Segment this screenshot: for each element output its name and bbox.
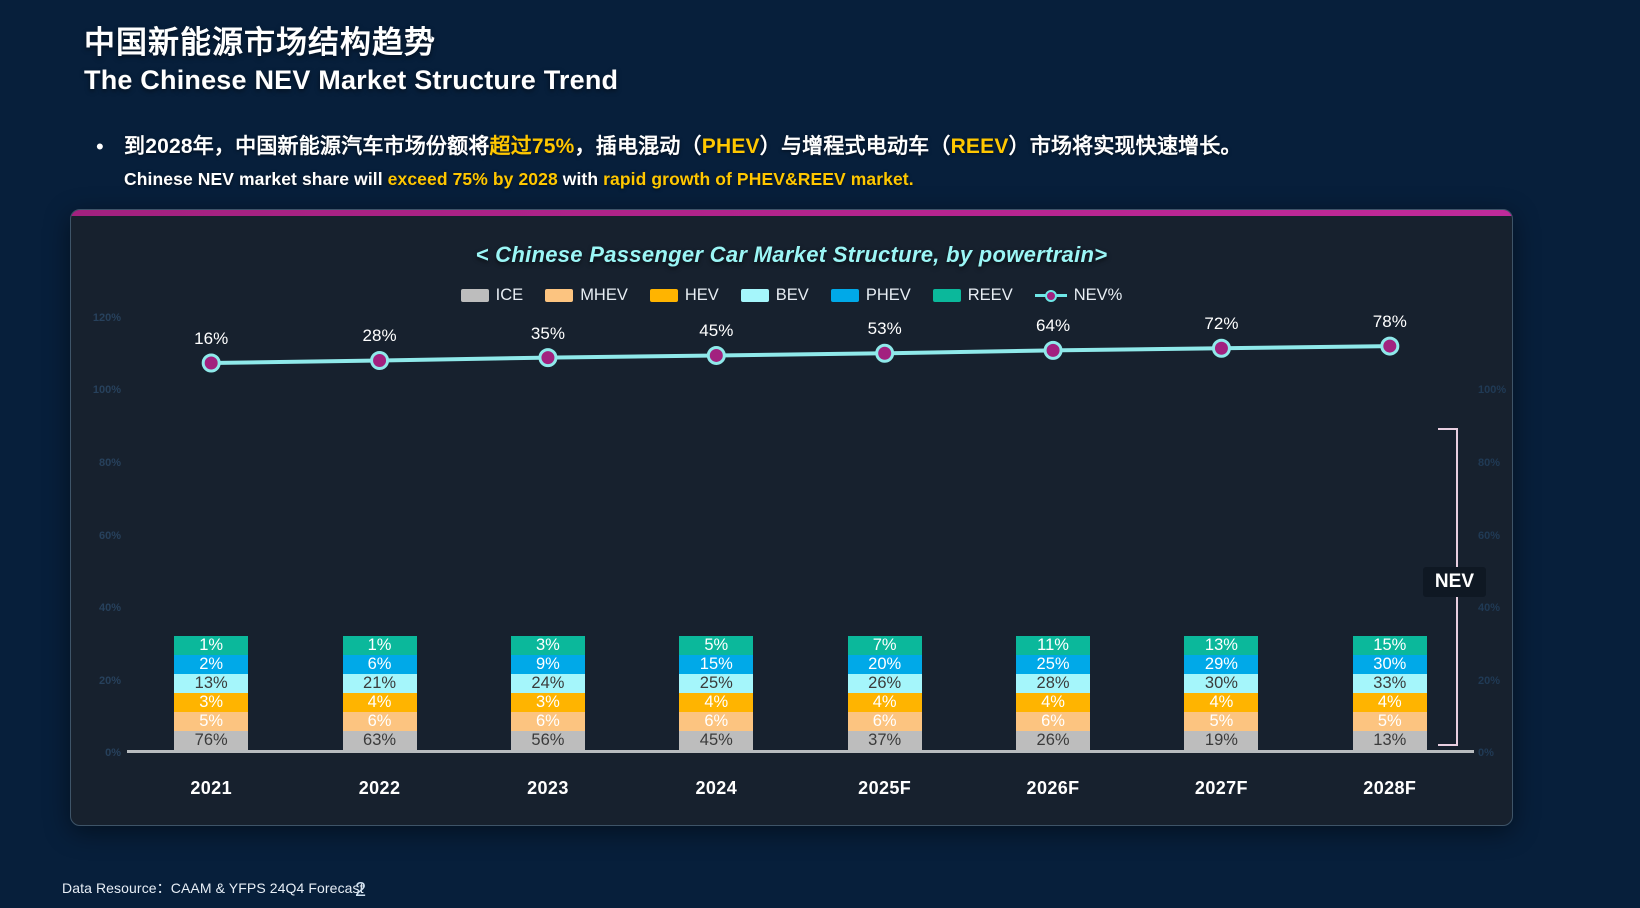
- bar-segment-reev[interactable]: 13%: [1184, 636, 1258, 655]
- x-axis-label: 2025F: [801, 778, 969, 799]
- bar-segment-value: 33%: [1373, 674, 1406, 693]
- y-tick-label: 40%: [99, 602, 121, 614]
- x-axis-label: 2021: [127, 778, 295, 799]
- bar-segment-ice[interactable]: 56%: [511, 731, 585, 750]
- bar-segment-bev[interactable]: 33%: [1353, 674, 1427, 693]
- data-source-note: Data Resource：CAAM & YFPS 24Q4 Forecast: [62, 878, 364, 898]
- bar-segment-bev[interactable]: 28%: [1016, 674, 1090, 693]
- bar-segment-phev[interactable]: 29%: [1184, 655, 1258, 674]
- legend-swatch-icon: [741, 289, 769, 302]
- bar-segment-mhev[interactable]: 6%: [511, 712, 585, 731]
- legend-swatch-icon: [933, 289, 961, 302]
- bar-segment-ice[interactable]: 13%: [1353, 731, 1427, 750]
- y-axis-right: 0%20%40%60%80%100%: [1474, 318, 1512, 753]
- bar-segment-bev[interactable]: 30%: [1184, 674, 1258, 693]
- bar-column: 63%6%4%21%6%1%: [295, 318, 463, 750]
- legend-label: ICE: [496, 286, 524, 305]
- y-tick-label-right: 0%: [1478, 747, 1494, 759]
- bar-segment-value: 15%: [700, 655, 733, 674]
- x-axis-labels: 20212022202320242025F2026F2027F2028F: [127, 778, 1474, 799]
- bar-segment-ice[interactable]: 63%: [343, 731, 417, 750]
- highlighted-text: PHEV: [702, 135, 760, 158]
- legend-item-bev[interactable]: BEV: [741, 286, 809, 305]
- bullet-marker: •: [96, 133, 124, 161]
- bar-segment-phev[interactable]: 6%: [343, 655, 417, 674]
- bar-segment-value: 7%: [873, 636, 897, 655]
- bar-stack: 63%6%4%21%6%1%: [343, 636, 417, 750]
- bar-segment-value: 45%: [700, 731, 733, 750]
- bar-segment-value: 37%: [868, 731, 901, 750]
- bar-segment-mhev[interactable]: 5%: [174, 712, 248, 731]
- bar-segment-value: 28%: [1037, 674, 1070, 693]
- y-tick-label: 60%: [99, 530, 121, 542]
- bar-segment-value: 3%: [536, 636, 560, 655]
- bar-segment-value: 26%: [1037, 731, 1070, 750]
- bar-segment-value: 13%: [1373, 731, 1406, 750]
- bar-segment-value: 13%: [1205, 636, 1238, 655]
- bar-segment-reev[interactable]: 1%: [174, 636, 248, 655]
- bar-segment-mhev[interactable]: 6%: [343, 712, 417, 731]
- bar-segment-value: 6%: [1041, 712, 1065, 731]
- x-axis-label: 2022: [295, 778, 463, 799]
- bar-segment-value: 1%: [368, 636, 392, 655]
- bar-segment-bev[interactable]: 26%: [848, 674, 922, 693]
- bar-segment-ice[interactable]: 26%: [1016, 731, 1090, 750]
- nev-bracket-label: NEV: [1423, 567, 1486, 597]
- legend-swatch-icon: [650, 289, 678, 302]
- highlighted-text: 超过75%: [490, 135, 575, 158]
- legend-item-ice[interactable]: ICE: [461, 286, 524, 305]
- bar-stack: 19%5%4%30%29%13%: [1184, 636, 1258, 750]
- chart-title: < Chinese Passenger Car Market Structure…: [71, 242, 1512, 268]
- legend-label: HEV: [685, 286, 719, 305]
- bar-segment-value: 4%: [873, 693, 897, 712]
- legend-item-phev[interactable]: PHEV: [831, 286, 911, 305]
- bar-segment-value: 30%: [1373, 655, 1406, 674]
- legend-item-reev[interactable]: REEV: [933, 286, 1013, 305]
- key-message-block: • 到2028年，中国新能源汽车市场份额将超过75%，插电混动（PHEV）与增程…: [96, 133, 1566, 191]
- bar-segment-reev[interactable]: 3%: [511, 636, 585, 655]
- bar-segment-value: 5%: [1378, 712, 1402, 731]
- bar-segment-value: 5%: [199, 712, 223, 731]
- bar-segment-mhev[interactable]: 6%: [848, 712, 922, 731]
- y-tick-label: 100%: [93, 384, 121, 396]
- highlighted-text: REEV: [951, 135, 1009, 158]
- bar-segment-mhev[interactable]: 6%: [1016, 712, 1090, 731]
- y-tick-label: 80%: [99, 457, 121, 469]
- legend-swatch-icon: [545, 289, 573, 302]
- legend-label: REEV: [968, 286, 1013, 305]
- bar-segment-value: 25%: [1037, 655, 1070, 674]
- bar-segment-hev[interactable]: 4%: [1016, 693, 1090, 712]
- legend-item-nev-percent[interactable]: NEV%: [1035, 286, 1123, 305]
- bar-segment-phev[interactable]: 20%: [848, 655, 922, 674]
- legend-item-mhev[interactable]: MHEV: [545, 286, 628, 305]
- bar-segment-bev[interactable]: 21%: [343, 674, 417, 693]
- page-number: 2: [355, 879, 366, 902]
- bar-column: 45%6%4%25%15%5%: [632, 318, 800, 750]
- bar-segment-value: 56%: [531, 731, 564, 750]
- bar-segment-hev[interactable]: 3%: [511, 693, 585, 712]
- bar-segment-hev[interactable]: 4%: [1353, 693, 1427, 712]
- bar-stack: 13%5%4%33%30%15%: [1353, 636, 1427, 750]
- y-axis-left: 120%100%80%60%40%20%0%: [85, 318, 127, 753]
- plain-text: ）市场将实现快速增长。: [1009, 135, 1242, 158]
- bar-segment-value: 26%: [868, 674, 901, 693]
- bar-segment-phev[interactable]: 30%: [1353, 655, 1427, 674]
- plot-area: 120%100%80%60%40%20%0% 0%20%40%60%80%100…: [127, 318, 1474, 753]
- bar-segment-hev[interactable]: 4%: [848, 693, 922, 712]
- bar-stack: 26%6%4%28%25%11%: [1016, 636, 1090, 750]
- page-title-english: The Chinese NEV Market Structure Trend: [84, 64, 618, 98]
- bar-segment-value: 76%: [195, 731, 228, 750]
- bar-segment-phev[interactable]: 15%: [679, 655, 753, 674]
- legend-label: BEV: [776, 286, 809, 305]
- bar-segment-reev[interactable]: 15%: [1353, 636, 1427, 655]
- bar-segment-value: 6%: [536, 712, 560, 731]
- bar-segment-value: 6%: [873, 712, 897, 731]
- plain-text: ）与增程式电动车（: [760, 135, 951, 158]
- bar-column: 26%6%4%28%25%11%: [969, 318, 1137, 750]
- bar-segment-ice[interactable]: 76%: [174, 731, 248, 750]
- bar-segment-reev[interactable]: 1%: [343, 636, 417, 655]
- bar-segment-value: 63%: [363, 731, 396, 750]
- bar-segment-ice[interactable]: 19%: [1184, 731, 1258, 750]
- bar-segment-value: 4%: [1378, 693, 1402, 712]
- x-axis-label: 2028F: [1306, 778, 1474, 799]
- bar-segment-value: 4%: [1041, 693, 1065, 712]
- bar-segment-phev[interactable]: 2%: [174, 655, 248, 674]
- bar-segment-value: 29%: [1205, 655, 1238, 674]
- bar-column: 76%5%3%13%2%1%: [127, 318, 295, 750]
- x-axis-label: 2023: [464, 778, 632, 799]
- plain-text: Chinese NEV market share will: [124, 169, 388, 189]
- bar-segment-value: 6%: [704, 712, 728, 731]
- bar-segment-mhev[interactable]: 5%: [1184, 712, 1258, 731]
- bar-segment-value: 6%: [368, 712, 392, 731]
- highlighted-text: exceed 75% by 2028: [388, 169, 558, 189]
- bar-segment-value: 25%: [700, 674, 733, 693]
- bar-column: 37%6%4%26%20%7%: [801, 318, 969, 750]
- plain-text: with: [558, 169, 603, 189]
- highlighted-text: rapid growth of PHEV&REEV market.: [603, 169, 914, 189]
- bar-segment-value: 9%: [536, 655, 560, 674]
- stacked-bars: 76%5%3%13%2%1%63%6%4%21%6%1%56%6%3%24%9%…: [127, 318, 1474, 750]
- legend-item-hev[interactable]: HEV: [650, 286, 719, 305]
- bar-segment-value: 2%: [199, 655, 223, 674]
- bar-segment-mhev[interactable]: 6%: [679, 712, 753, 731]
- bar-segment-value: 4%: [704, 693, 728, 712]
- bullet-text-chinese: 到2028年，中国新能源汽车市场份额将超过75%，插电混动（PHEV）与增程式电…: [124, 133, 1242, 161]
- bar-segment-value: 4%: [368, 693, 392, 712]
- bar-segment-value: 1%: [199, 636, 223, 655]
- y-tick-label: 120%: [93, 312, 121, 324]
- bar-segment-hev[interactable]: 4%: [1184, 693, 1258, 712]
- y-tick-label: 20%: [99, 675, 121, 687]
- panel-accent-bar: [71, 210, 1512, 216]
- x-axis-line: [127, 750, 1474, 753]
- y-tick-label-right: 80%: [1478, 457, 1500, 469]
- legend-label: NEV%: [1074, 286, 1123, 305]
- bar-segment-bev[interactable]: 25%: [679, 674, 753, 693]
- bar-segment-hev[interactable]: 3%: [174, 693, 248, 712]
- bar-stack: 56%6%3%24%9%3%: [511, 636, 585, 750]
- bar-segment-value: 3%: [199, 693, 223, 712]
- x-axis-label: 2026F: [969, 778, 1137, 799]
- legend-swatch-icon: [461, 289, 489, 302]
- bar-segment-value: 13%: [195, 674, 228, 693]
- bar-segment-bev[interactable]: 13%: [174, 674, 248, 693]
- x-axis-label: 2027F: [1137, 778, 1305, 799]
- bar-stack: 37%6%4%26%20%7%: [848, 636, 922, 750]
- bar-segment-ice[interactable]: 45%: [679, 731, 753, 750]
- chart-panel: < Chinese Passenger Car Market Structure…: [70, 209, 1513, 826]
- y-tick-label: 0%: [105, 747, 121, 759]
- bar-segment-ice[interactable]: 37%: [848, 731, 922, 750]
- plain-text: ，插电混动（: [575, 135, 702, 158]
- bar-segment-reev[interactable]: 11%: [1016, 636, 1090, 655]
- bar-segment-value: 6%: [368, 655, 392, 674]
- bar-segment-value: 15%: [1373, 636, 1406, 655]
- legend-line-marker-icon: [1035, 290, 1067, 302]
- bar-segment-mhev[interactable]: 5%: [1353, 712, 1427, 731]
- bar-segment-hev[interactable]: 4%: [679, 693, 753, 712]
- legend-label: MHEV: [580, 286, 628, 305]
- legend-label: PHEV: [866, 286, 911, 305]
- bar-column: 56%6%3%24%9%3%: [464, 318, 632, 750]
- y-tick-label-right: 40%: [1478, 602, 1500, 614]
- y-tick-label-right: 60%: [1478, 530, 1500, 542]
- bar-segment-value: 19%: [1205, 731, 1238, 750]
- bullet-text-english: Chinese NEV market share will exceed 75%…: [124, 168, 1566, 191]
- bar-segment-reev[interactable]: 7%: [848, 636, 922, 655]
- bar-segment-value: 5%: [1210, 712, 1234, 731]
- bar-segment-value: 4%: [1210, 693, 1234, 712]
- bar-segment-phev[interactable]: 9%: [511, 655, 585, 674]
- x-axis-label: 2024: [632, 778, 800, 799]
- bar-segment-value: 20%: [868, 655, 901, 674]
- legend-swatch-icon: [831, 289, 859, 302]
- bar-segment-value: 21%: [363, 674, 396, 693]
- bar-segment-bev[interactable]: 24%: [511, 674, 585, 693]
- plain-text: 到2028年，中国新能源汽车市场份额将: [124, 135, 490, 158]
- bar-segment-value: 11%: [1037, 636, 1069, 655]
- slide-header: 中国新能源市场结构趋势 The Chinese NEV Market Struc…: [84, 24, 618, 98]
- y-tick-label-right: 20%: [1478, 675, 1500, 687]
- bar-segment-value: 30%: [1205, 674, 1238, 693]
- bar-column: 19%5%4%30%29%13%: [1137, 318, 1305, 750]
- page-title-chinese: 中国新能源市场结构趋势: [84, 24, 618, 62]
- bar-segment-phev[interactable]: 25%: [1016, 655, 1090, 674]
- bar-segment-value: 3%: [536, 693, 560, 712]
- bar-stack: 45%6%4%25%15%5%: [679, 636, 753, 750]
- bar-stack: 76%5%3%13%2%1%: [174, 636, 248, 750]
- bar-segment-value: 24%: [531, 674, 564, 693]
- bar-segment-value: 5%: [704, 636, 728, 655]
- bar-segment-reev[interactable]: 5%: [679, 636, 753, 655]
- y-tick-label-right: 100%: [1478, 384, 1506, 396]
- bar-segment-hev[interactable]: 4%: [343, 693, 417, 712]
- chart-legend: ICEMHEVHEVBEVPHEVREEVNEV%: [71, 286, 1512, 305]
